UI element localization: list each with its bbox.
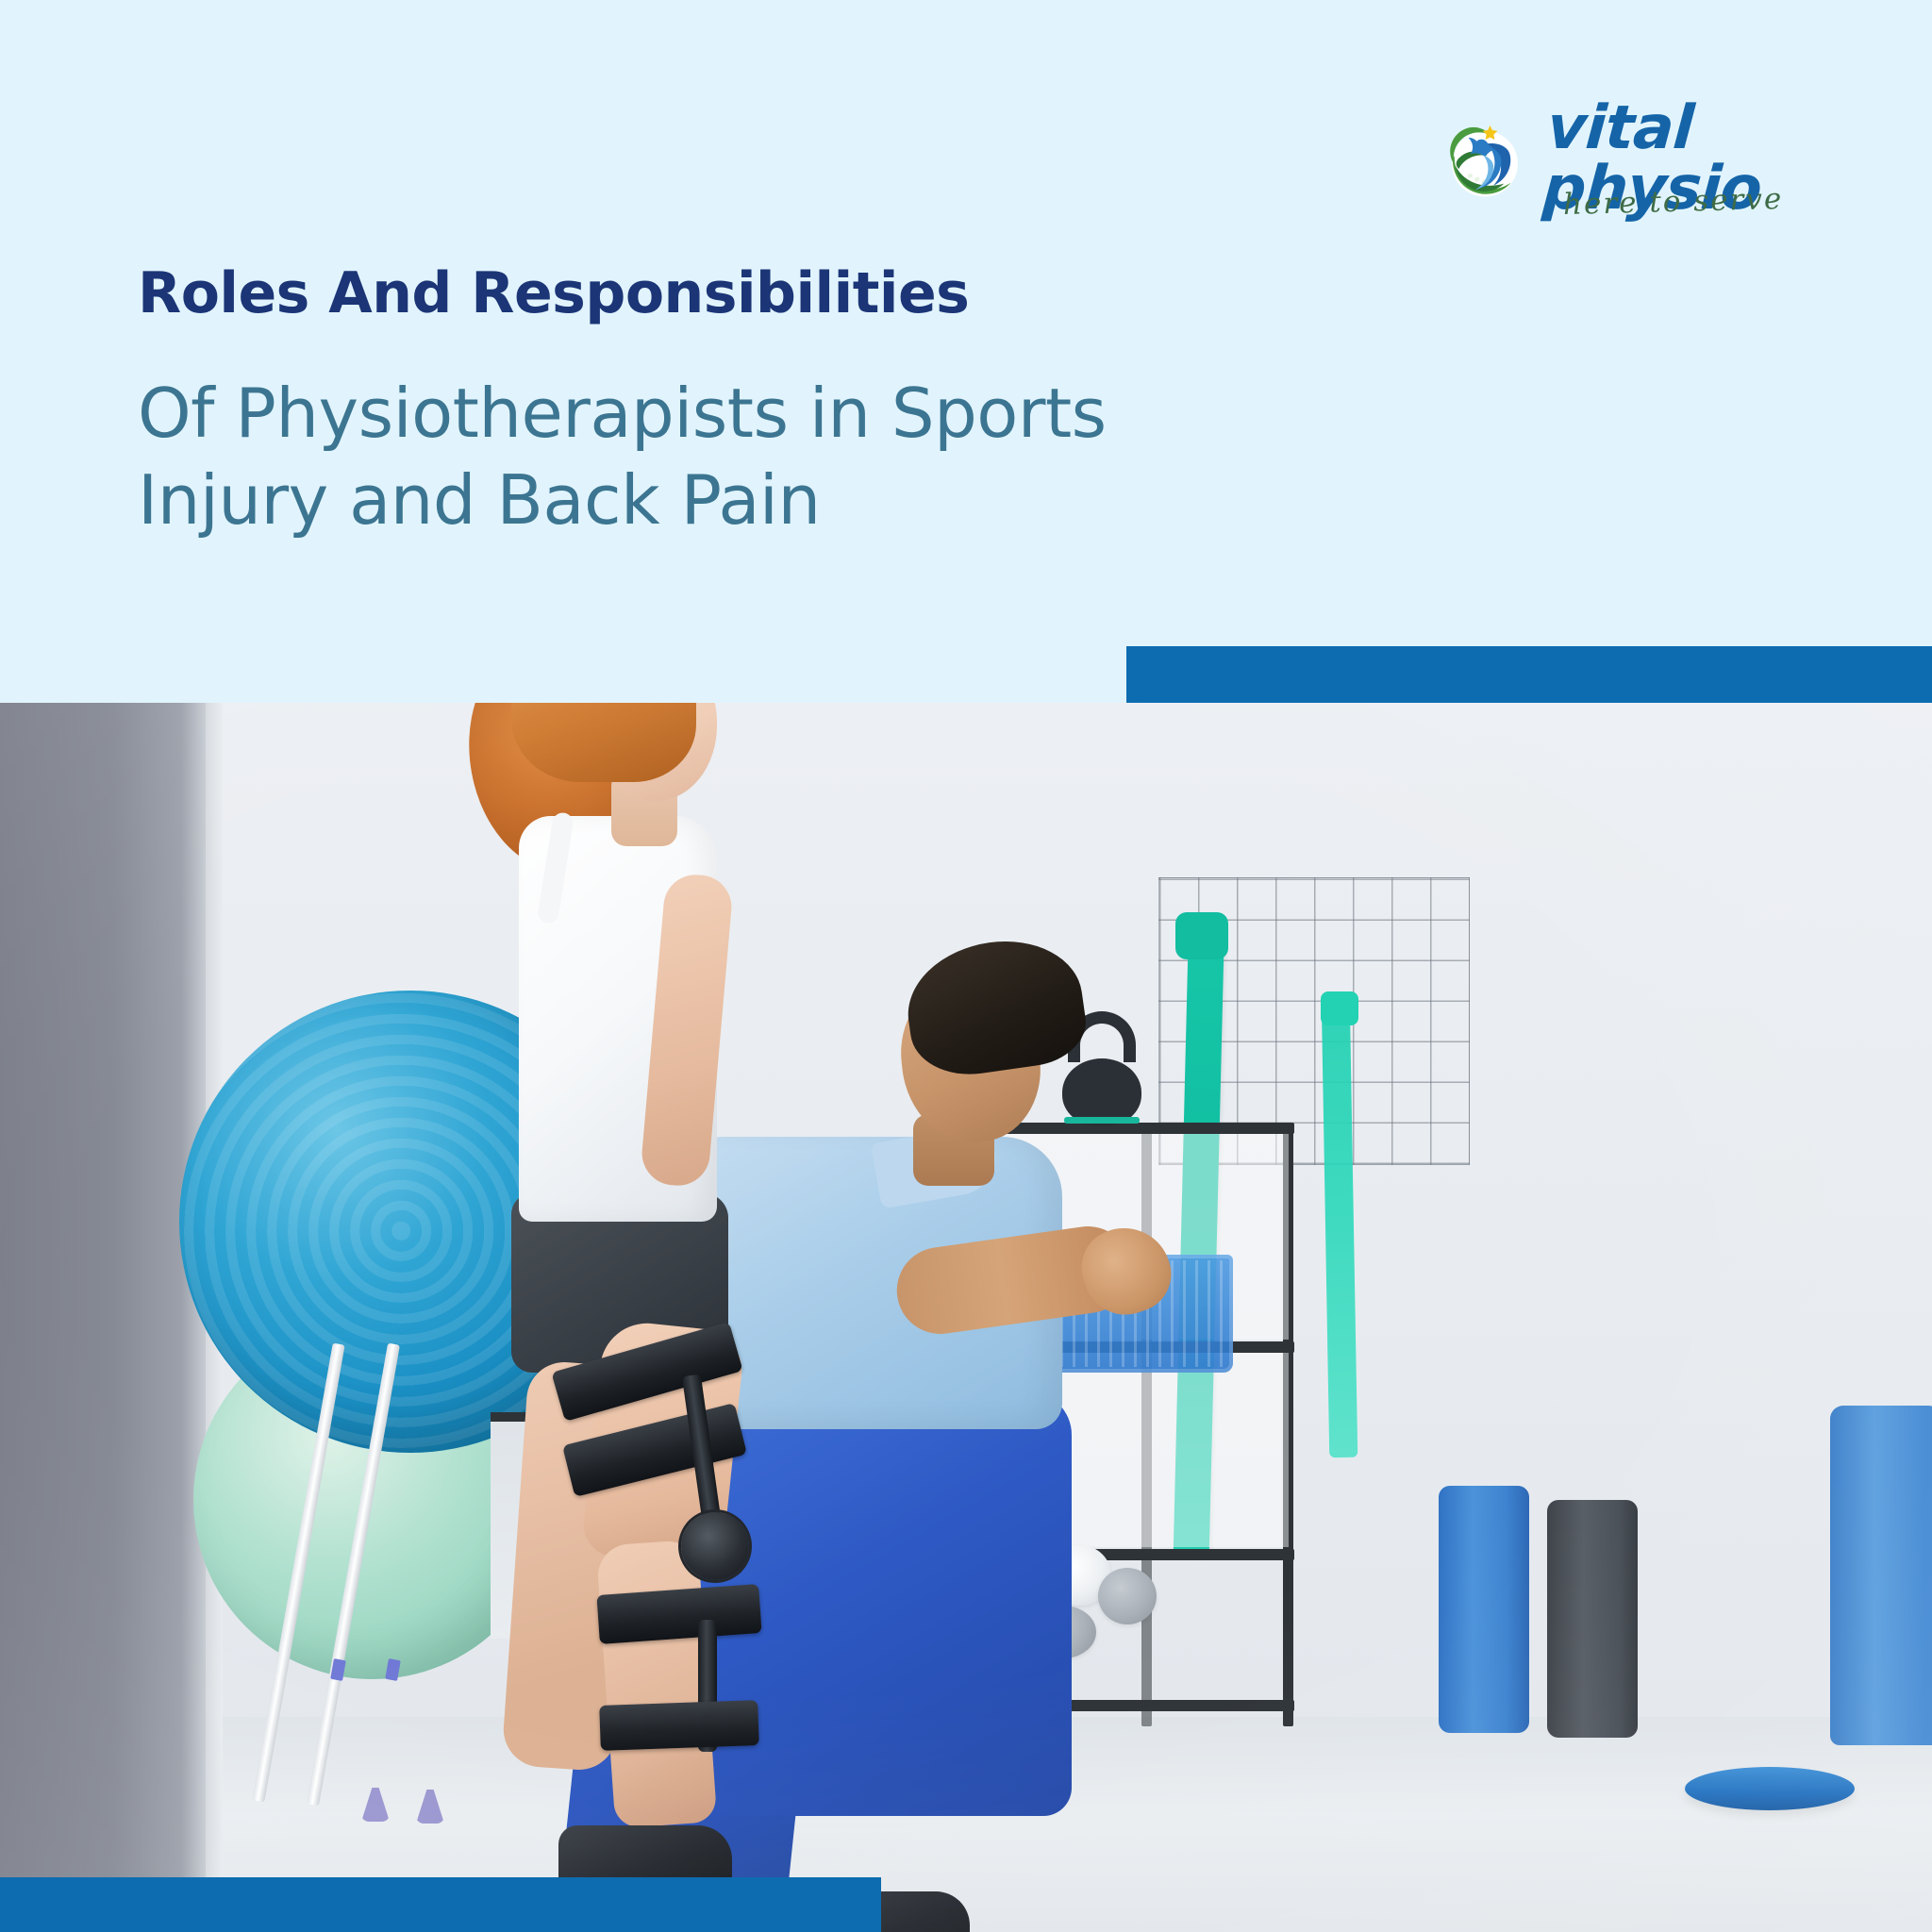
hero-photo bbox=[0, 703, 1932, 1932]
knee-brace bbox=[557, 1325, 745, 1740]
resistance-band-small-knot bbox=[1321, 991, 1358, 1025]
brand-logo[interactable]: vital physio here to serve bbox=[1441, 98, 1866, 221]
patient-figure bbox=[491, 703, 887, 1932]
header-banner: vital physio here to serve Roles And Res… bbox=[0, 0, 1932, 703]
bottom-accent-bar bbox=[0, 1877, 881, 1932]
vital-physio-emblem-icon bbox=[1441, 115, 1528, 202]
balance-disc bbox=[1685, 1767, 1855, 1810]
page-title: Of Physiotherapists in Sports Injury and… bbox=[138, 370, 1175, 543]
wall-column bbox=[0, 703, 206, 1932]
top-accent-bar bbox=[1126, 646, 1932, 703]
foam-roller-grey bbox=[1547, 1500, 1638, 1738]
brand-tagline: here to serve bbox=[1562, 182, 1783, 222]
foam-roller-blue-right bbox=[1830, 1406, 1932, 1745]
poster-canvas: vital physio here to serve Roles And Res… bbox=[0, 0, 1932, 1932]
therapist-hair bbox=[899, 931, 1091, 1083]
foam-roller-blue bbox=[1439, 1486, 1529, 1733]
eyebrow-heading: Roles And Responsibilities bbox=[138, 260, 969, 326]
